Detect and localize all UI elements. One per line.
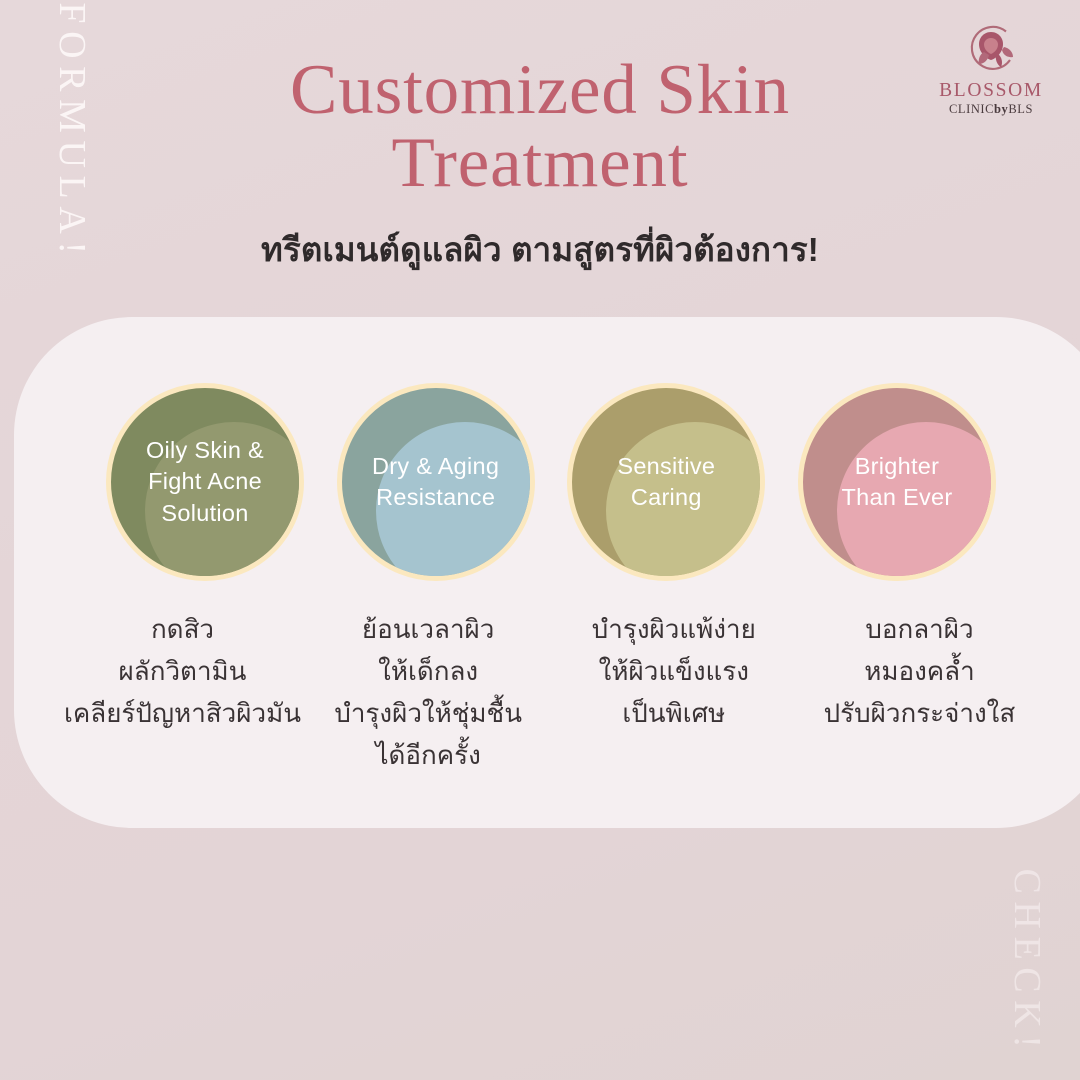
treatment-caption-4: บอกลาผิว หมองคล้ำ ปรับผิวกระจ่างใส bbox=[797, 608, 1042, 776]
treatment-circle-label-2: Dry & Aging Resistance bbox=[364, 451, 507, 514]
poster-canvas: FORMULA! CHECK! BLOSSOM CLINICbyBLS Cust… bbox=[0, 0, 1080, 1080]
treatment-caption-3: บำรุงผิวแพ้ง่าย ให้ผิวแข็งแรง เป็นพิเศษ bbox=[551, 608, 796, 776]
treatment-circle-row: Oily Skin & Fight Acne Solution Dry & Ag… bbox=[106, 383, 996, 583]
treatment-circle-label-1: Oily Skin & Fight Acne Solution bbox=[138, 435, 272, 529]
treatment-circle-1[interactable]: Oily Skin & Fight Acne Solution bbox=[106, 383, 304, 581]
treatment-caption-1: กดสิว ผลักวิตามิน เคลียร์ปัญหาสิวผิวมัน bbox=[60, 608, 305, 776]
page-title: Customized Skin Treatment bbox=[0, 54, 1080, 200]
treatment-circle-2[interactable]: Dry & Aging Resistance bbox=[337, 383, 535, 581]
side-label-check: CHECK! bbox=[1005, 832, 1049, 1080]
treatment-circle-label-4: Brighter Than Ever bbox=[833, 451, 960, 514]
treatment-caption-row: กดสิว ผลักวิตามิน เคลียร์ปัญหาสิวผิวมัน … bbox=[60, 608, 1042, 776]
treatment-circle-4[interactable]: Brighter Than Ever bbox=[798, 383, 996, 581]
page-subtitle: ทรีตเมนต์ดูแลผิว ตามสูตรที่ผิวต้องการ! bbox=[0, 223, 1080, 276]
treatment-caption-2: ย้อนเวลาผิว ให้เด็กลง บำรุงผิวให้ชุ่มชื้… bbox=[306, 608, 551, 776]
treatment-circle-label-3: Sensitive Caring bbox=[609, 451, 723, 514]
treatment-circle-3[interactable]: Sensitive Caring bbox=[567, 383, 765, 581]
